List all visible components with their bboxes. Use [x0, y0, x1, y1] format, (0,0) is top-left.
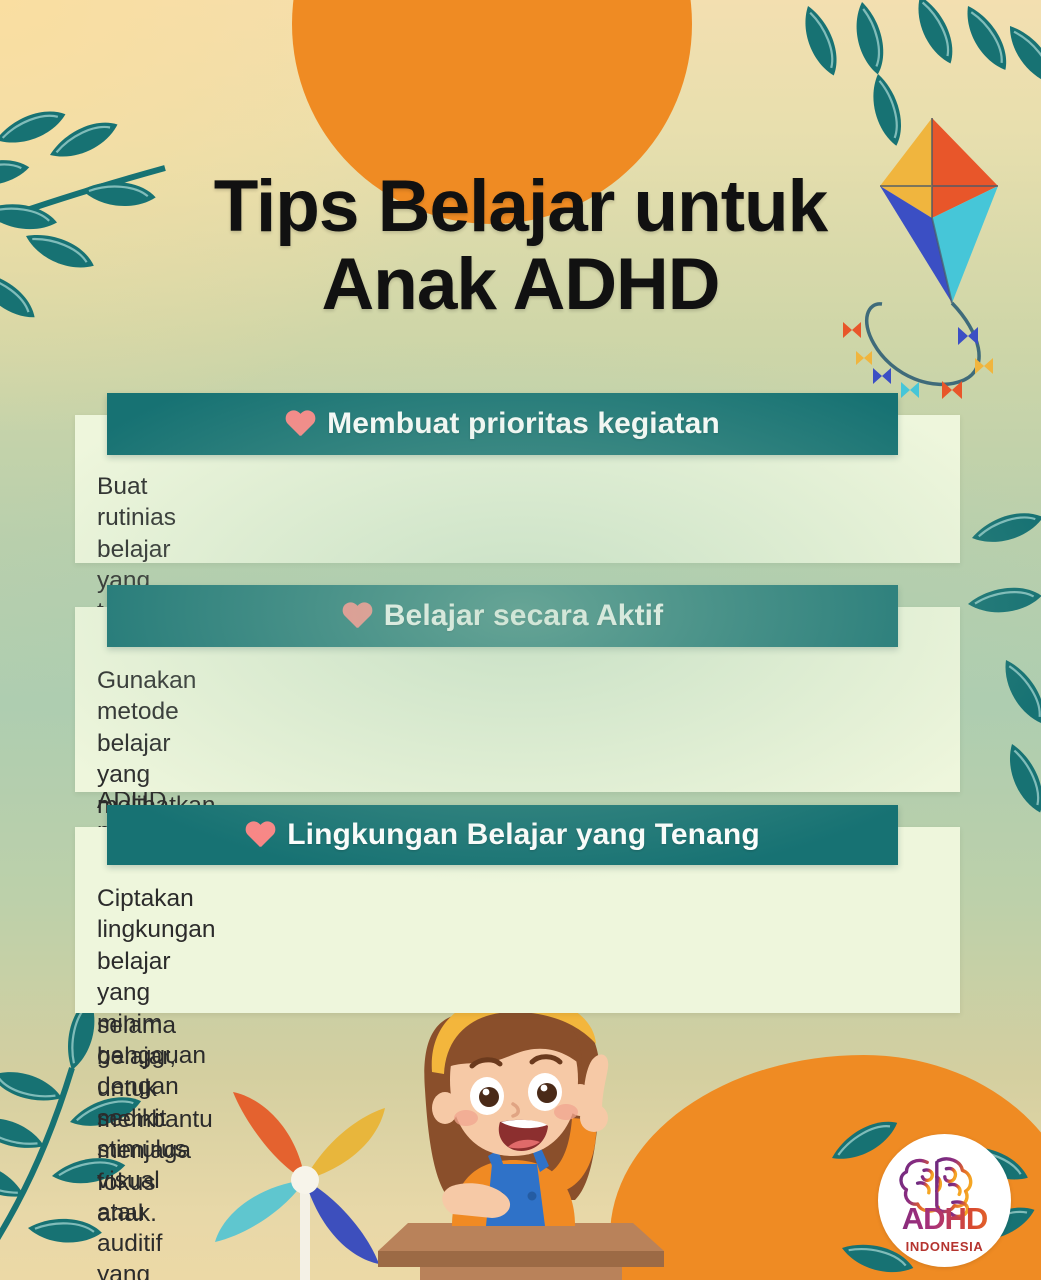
hanging-leaves-top-right	[798, 0, 1041, 149]
infographic-poster: Tips Belajar untuk Anak ADHD Membuat pri…	[0, 0, 1041, 1280]
girl-student-illustration	[424, 994, 608, 1226]
heart-icon	[245, 822, 275, 850]
title-line-1: Tips Belajar untuk	[214, 166, 827, 247]
title-line-2: Anak ADHD	[0, 246, 1041, 324]
logo-subtitle: INDONESIA	[878, 1239, 1011, 1254]
tip-card-2-heading: Belajar secara Aktif	[384, 599, 663, 633]
page-title: Tips Belajar untuk Anak ADHD	[0, 168, 1041, 324]
logo-badge: ADHD INDONESIA	[878, 1134, 1011, 1267]
logo-title: ADHD	[878, 1201, 1011, 1237]
tip-card-3-heading: Lingkungan Belajar yang Tenang	[287, 818, 760, 852]
tip-card-1-header: Membuat prioritas kegiatan	[107, 393, 898, 455]
heart-icon	[342, 603, 372, 631]
tip-card-3-text: Ciptakan lingkungan belajar yang minim g…	[75, 883, 119, 1280]
tip-card-3-header: Lingkungan Belajar yang Tenang	[107, 805, 898, 865]
tip-card-2-header: Belajar secara Aktif	[107, 585, 898, 647]
pinwheel-icon	[215, 1092, 385, 1280]
leaves-right-edge	[967, 507, 1041, 817]
heart-icon	[285, 411, 315, 439]
tip-card-1-heading: Membuat prioritas kegiatan	[327, 407, 720, 441]
